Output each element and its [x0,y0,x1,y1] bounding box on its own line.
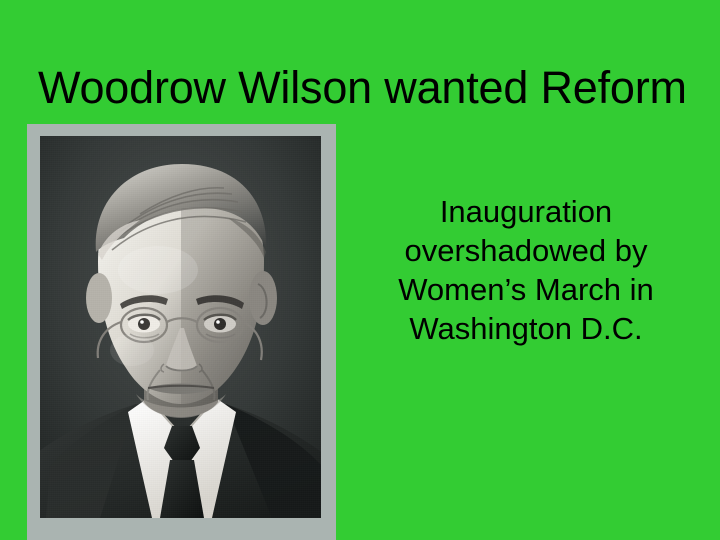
portrait-image-frame[interactable] [27,124,336,540]
body-line-2: overshadowed by [358,231,694,270]
presentation-slide: Woodrow Wilson wanted Reform [0,0,720,540]
woodrow-wilson-portrait-photo[interactable] [40,136,321,518]
slide-body-text: Inauguration overshadowed by Women’s Mar… [358,192,694,348]
body-line-1: Inauguration [358,192,694,231]
body-line-3: Women’s March in [358,270,694,309]
body-line-4: Washington D.C. [358,309,694,348]
portrait-illustration [40,136,321,518]
slide-title: Woodrow Wilson wanted Reform [38,62,698,114]
